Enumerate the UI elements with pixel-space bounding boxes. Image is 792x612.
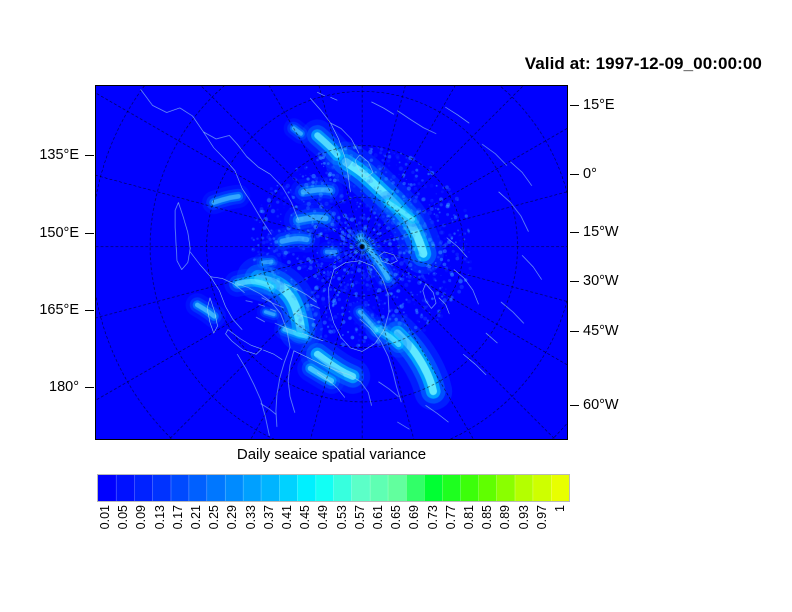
right-axis-tick xyxy=(570,105,579,106)
left-axis-tick xyxy=(85,233,94,234)
colorbar-tick-label: 0.41 xyxy=(281,505,294,529)
right-axis-tick xyxy=(570,174,579,175)
left-axis-label: 150°E xyxy=(0,226,79,241)
right-axis-tick xyxy=(570,281,579,282)
left-axis-tick xyxy=(85,155,94,156)
colorbar-tick-label: 0.97 xyxy=(536,505,549,529)
colorbar-tick-label: 0.57 xyxy=(354,505,367,529)
colorbar-tick-label: 0.29 xyxy=(226,505,239,529)
colorbar-tick-label: 0.85 xyxy=(481,505,494,529)
right-axis-label: 30°W xyxy=(583,274,619,289)
right-axis-label: 0° xyxy=(583,167,597,182)
right-axis-tick xyxy=(570,232,579,233)
colorbar-caption: Daily seaice spatial variance xyxy=(95,446,568,463)
colorbar-gradient[interactable] xyxy=(97,474,570,502)
map-panel[interactable] xyxy=(95,85,568,440)
colorbar-tick-label: 0.05 xyxy=(117,505,130,529)
colorbar-tick-label: 0.61 xyxy=(372,505,385,529)
colorbar-tick-label: 0.37 xyxy=(263,505,276,529)
left-axis-tick xyxy=(85,310,94,311)
right-axis-label: 60°W xyxy=(583,398,619,413)
map-canvas[interactable] xyxy=(96,86,567,439)
left-axis-label: 135°E xyxy=(0,148,79,163)
colorbar-tick-label: 0.01 xyxy=(99,505,112,529)
colorbar-tick-label: 0.93 xyxy=(518,505,531,529)
left-axis-tick xyxy=(85,387,94,388)
left-axis-label: 180° xyxy=(0,380,79,395)
colorbar-tick-label: 0.17 xyxy=(172,505,185,529)
colorbar-tick-label: 1 xyxy=(554,505,567,512)
left-axis-label: 165°E xyxy=(0,303,79,318)
colorbar-tick-label: 0.77 xyxy=(445,505,458,529)
colorbar-tick-label: 0.73 xyxy=(427,505,440,529)
colorbar-tick-label: 0.53 xyxy=(336,505,349,529)
colorbar-tick-label: 0.21 xyxy=(190,505,203,529)
colorbar-tick-label: 0.81 xyxy=(463,505,476,529)
right-axis-label: 15°E xyxy=(583,98,615,113)
colorbar-tick-label: 0.45 xyxy=(299,505,312,529)
colorbar-tick-label: 0.13 xyxy=(154,505,167,529)
colorbar-tick-label: 0.25 xyxy=(208,505,221,529)
colorbar-tick-label: 0.65 xyxy=(390,505,403,529)
right-axis-tick xyxy=(570,405,579,406)
colorbar[interactable] xyxy=(97,474,570,502)
colorbar-tick-labels: 0.010.050.090.130.170.210.250.290.330.37… xyxy=(97,505,570,585)
figure-root: Valid at: 1997-12-09_00:00:00 135°E150°E… xyxy=(0,0,792,612)
right-axis-tick xyxy=(570,331,579,332)
colorbar-tick-label: 0.09 xyxy=(135,505,148,529)
colorbar-tick-label: 0.89 xyxy=(499,505,512,529)
colorbar-tick-label: 0.69 xyxy=(408,505,421,529)
right-axis-label: 45°W xyxy=(583,324,619,339)
right-axis-label: 15°W xyxy=(583,225,619,240)
page-title: Valid at: 1997-12-09_00:00:00 xyxy=(525,54,762,74)
colorbar-tick-label: 0.49 xyxy=(317,505,330,529)
colorbar-tick-label: 0.33 xyxy=(245,505,258,529)
